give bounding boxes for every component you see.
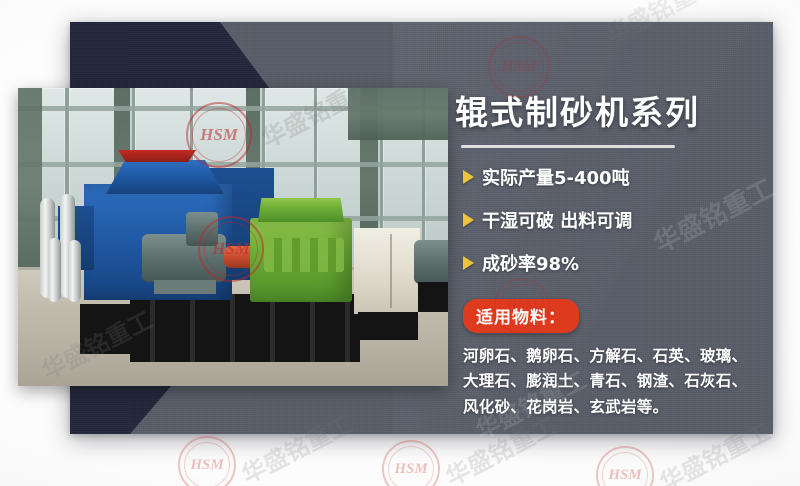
gearbox-inspection-covers [264, 238, 344, 272]
feature-text: 干湿可破 出料可调 [482, 207, 632, 233]
feed-hopper [118, 150, 196, 162]
arrow-right-icon [463, 213, 474, 227]
crusher-blue-hood [106, 160, 224, 194]
poster-root: HSM HSM 华盛铭重工 华盛铭重工 辊式制砂机系列 实际产量5-400吨 干… [0, 0, 800, 486]
content-column: 辊式制砂机系列 实际产量5-400吨 干湿可破 出料可调 成砂率98% 适用物料… [455, 30, 773, 420]
feature-text: 成砂率98% [482, 250, 579, 276]
feature-list: 实际产量5-400吨 干湿可破 出料可调 成砂率98% [455, 164, 773, 276]
hydraulic-cylinder-4 [68, 240, 81, 302]
secondary-motor-base [418, 282, 448, 312]
materials-badge: 适用物料： [463, 299, 579, 333]
materials-text: 河卵石、鹅卵石、方解石、石英、玻璃、大理石、膨润土、青石、钢渣、石灰石、风化砂、… [463, 344, 763, 419]
motor-mount-plate [154, 280, 216, 294]
arrow-right-icon [463, 256, 474, 270]
arrow-right-icon [463, 170, 474, 184]
control-cabinet [354, 228, 420, 314]
page-title: 辊式制砂机系列 [455, 95, 773, 131]
title-divider [461, 145, 675, 148]
list-item: 成砂率98% [463, 250, 773, 276]
gearbox-top-fins [258, 198, 344, 222]
product-photo: HSM HSM 华盛铭重工 华盛铭重工 [18, 88, 448, 386]
secondary-motor [414, 240, 448, 284]
cabinet-door-seam [390, 234, 392, 308]
list-item: 干湿可破 出料可调 [463, 207, 773, 233]
feature-text: 实际产量5-400吨 [482, 164, 630, 190]
machine-base-frame [130, 294, 360, 362]
motor-coupling-shroud [186, 212, 218, 246]
hydraulic-cylinder-3 [48, 238, 61, 302]
machine-base-frame-left [80, 304, 136, 354]
cabinet-base [358, 312, 418, 340]
list-item: 实际产量5-400吨 [463, 164, 773, 190]
